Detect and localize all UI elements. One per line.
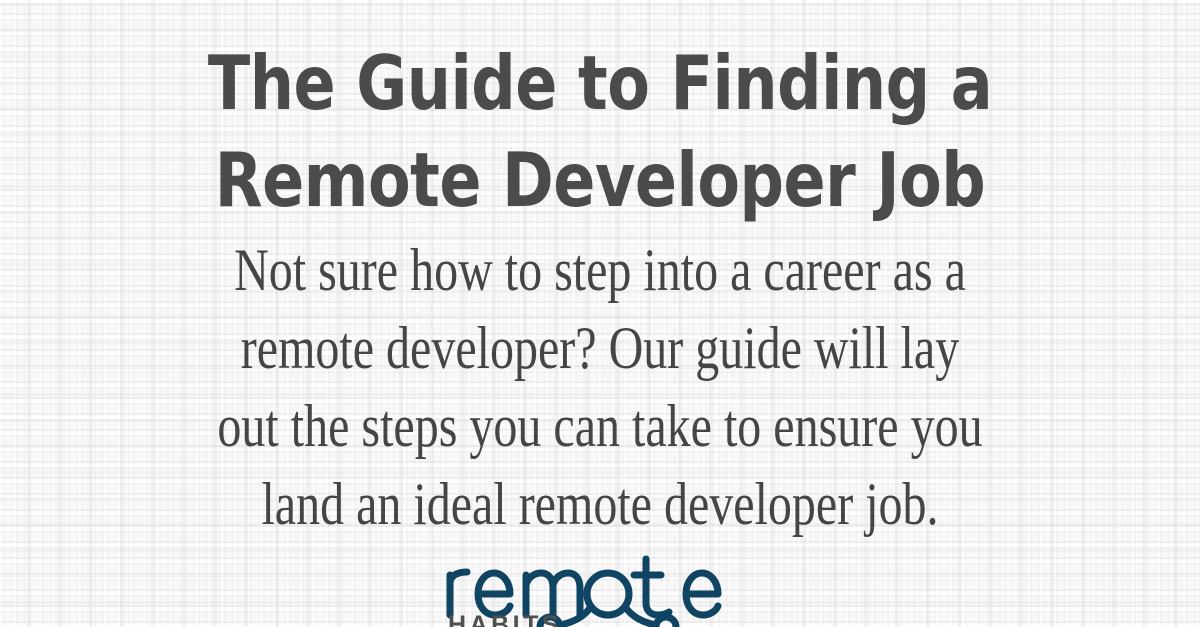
subtitle: Not sure how to step into a career as a …: [0, 231, 1200, 543]
banner-content: The Guide to Finding a Remote Developer …: [0, 0, 1200, 627]
brand-logo[interactable]: HABITS: [440, 549, 760, 627]
promo-banner: The Guide to Finding a Remote Developer …: [0, 0, 1200, 627]
subcopy-line-2: remote developer? Our guide will lay: [158, 309, 1041, 387]
headline-line-1: The Guide to Finding a: [103, 35, 1097, 132]
subcopy-line-3: out the steps you can take to ensure you: [158, 387, 1041, 465]
logo-wordmark-remote: [450, 559, 718, 615]
logo-tagline: HABITS: [448, 611, 562, 627]
headline-line-2: Remote Developer Job: [103, 132, 1097, 229]
subcopy-line-1: Not sure how to step into a career as a: [158, 231, 1041, 309]
logo-svg: HABITS: [440, 549, 760, 627]
network-node-right-icon: [656, 617, 676, 627]
subcopy: Not sure how to step into a career as a …: [120, 231, 1080, 543]
subcopy-line-4: land an ideal remote developer job.: [158, 465, 1041, 543]
page-title: The Guide to Finding a Remote Developer …: [0, 0, 1200, 229]
headline: The Guide to Finding a Remote Developer …: [48, 35, 1152, 229]
